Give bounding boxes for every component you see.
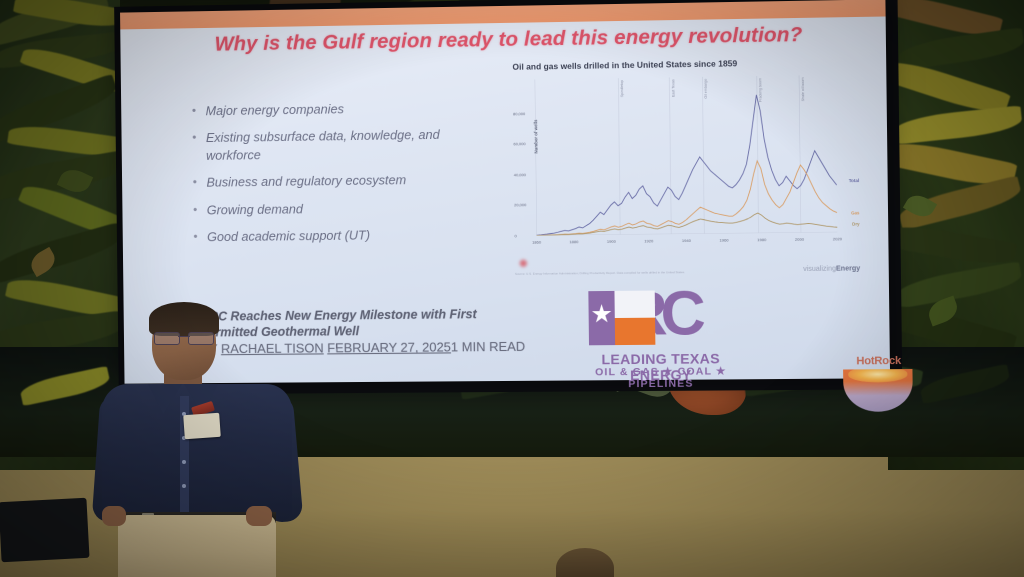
glasses-lens-right	[188, 332, 214, 345]
flag-white-stripe	[614, 291, 655, 318]
hotrock-logo: HotRock	[837, 355, 919, 418]
chart-brand-prefix: visualizing	[803, 266, 836, 273]
slide-title: Why is the Gulf region ready to lead thi…	[179, 22, 839, 57]
slide-bullet-item: Existing subsurface data, knowledge, and…	[206, 125, 486, 165]
chart-y-tick: 80,000	[513, 111, 525, 116]
glasses-icon	[154, 332, 214, 343]
rrc-logo-mark: RRC	[584, 286, 738, 354]
chart-x-tick: 1860	[532, 240, 541, 245]
chart-plot-area: Number of wells 020,00040,00060,00080,00…	[535, 75, 838, 236]
glasses-bridge	[178, 336, 190, 337]
chart-annotation: Oil embargo	[704, 79, 708, 99]
presenter-left-hand	[102, 506, 126, 526]
chart: Oil and gas wells drilled in the United …	[506, 56, 864, 262]
chart-title: Oil and gas wells drilled in the United …	[512, 58, 737, 72]
name-badge	[183, 413, 221, 439]
chart-x-tick: 1960	[719, 238, 728, 243]
chart-x-tick: 1880	[569, 239, 578, 244]
slide-bullet-item: Major energy companies	[205, 98, 485, 120]
chart-y-tick: 0	[514, 233, 516, 238]
chart-y-tick: 20,000	[514, 203, 526, 208]
foreground-table	[0, 498, 90, 563]
flag-red-stripe	[615, 318, 656, 345]
presenter	[96, 300, 306, 577]
hotrock-wordmark: HotRock	[843, 355, 915, 368]
glasses-lens-left	[154, 332, 180, 345]
slide-bullet-list: Major energy companiesExisting subsurfac…	[188, 98, 487, 255]
chart-annotation: Spindletop	[620, 80, 624, 97]
shirt-button	[182, 460, 186, 464]
chart-y-tick: 40,000	[514, 172, 526, 177]
rrc-tagline-secondary: OIL & GAS ★ COAL ★ PIPELINES	[579, 365, 743, 390]
chart-x-tick: 1920	[644, 238, 653, 243]
article-date: FEBRUARY 27, 2025	[327, 340, 451, 356]
rrc-logo: RRC LEADING TEXAS ENERGY OIL & GAS ★ COA…	[574, 286, 747, 384]
article-read-time: 1 MIN READ	[451, 339, 525, 355]
chart-x-tick: 1980	[757, 237, 766, 242]
texas-flag-icon	[588, 291, 655, 346]
chart-brand: visualizingEnergy	[803, 265, 860, 273]
chart-source-note: Source: U.S. Energy Information Administ…	[515, 269, 757, 276]
slide-bullet-item: Business and regulatory ecosystem	[206, 171, 486, 193]
chart-annotation: Fracking boom	[758, 78, 762, 102]
chart-x-tick: 2000	[795, 237, 804, 242]
chart-series-svg	[535, 75, 838, 236]
presenter-right-hand	[246, 506, 272, 526]
chart-x-tick: 1900	[607, 239, 616, 244]
presenter-hair	[149, 302, 219, 336]
laser-pointer-dot	[519, 259, 528, 268]
presentation-photo: Why is the Gulf region ready to lead thi…	[0, 0, 1024, 577]
slide-bullet-item: Good academic support (UT)	[207, 225, 487, 246]
chart-y-tick: 60,000	[513, 141, 525, 146]
hotrock-bowl-icon	[843, 369, 913, 412]
chart-legend-item: Dry	[852, 222, 860, 227]
chart-brand-suffix: Energy	[836, 265, 860, 272]
shirt-button	[182, 484, 186, 488]
chart-legend-item: Gas	[851, 211, 860, 216]
chart-annotation: Shale oil boom	[801, 77, 805, 101]
chart-annotation: East Texas	[671, 79, 675, 97]
chart-legend-item: Total	[849, 178, 859, 183]
slide-bullet-item: Growing demand	[207, 198, 487, 219]
chart-x-tick: 1940	[682, 238, 691, 243]
chart-x-tick: 2020	[833, 236, 842, 241]
